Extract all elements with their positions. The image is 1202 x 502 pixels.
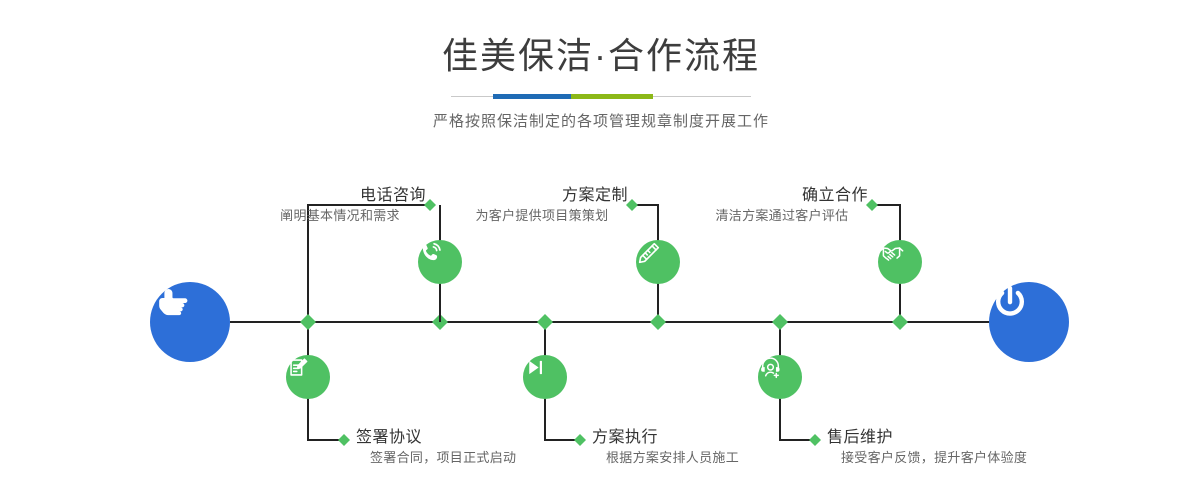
spine-marker	[892, 314, 908, 330]
step-label-3: 方案定制 为客户提供项目策策划	[456, 186, 628, 225]
infographic-canvas: 佳美保洁·合作流程 严格按照保洁制定的各项管理规章制度开展工作	[0, 0, 1202, 502]
spine-marker	[537, 314, 553, 330]
step-label-4: 方案执行 根据方案安排人员施工	[592, 428, 739, 467]
step-desc-3: 为客户提供项目策策划	[456, 206, 628, 225]
step-label-2: 签署协议 签署合同，项目正式启动	[356, 428, 516, 467]
step-title-6: 售后维护	[827, 428, 1027, 448]
flow-end-node[interactable]	[989, 282, 1069, 362]
step-icon-headset-support[interactable]	[758, 355, 802, 399]
label-marker	[574, 434, 586, 446]
step-label-5: 确立合作 清洁方案通过客户评估	[696, 186, 868, 225]
step-label-1: 电话咨询 阐明基本情况和需求	[254, 186, 426, 225]
step-icon-document-edit[interactable]	[286, 355, 330, 399]
step-desc-5: 清洁方案通过客户评估	[696, 206, 868, 225]
step-title-1: 电话咨询	[254, 186, 426, 206]
step-icon-play-skip[interactable]	[523, 355, 567, 399]
spine-marker	[300, 314, 316, 330]
step-icon-handshake[interactable]	[878, 240, 922, 284]
step-icon-phone-call[interactable]	[418, 240, 462, 284]
step-title-3: 方案定制	[456, 186, 628, 206]
step-title-2: 签署协议	[356, 428, 516, 448]
step-title-4: 方案执行	[592, 428, 739, 448]
label-marker	[338, 434, 350, 446]
step-icon-pencil-ruler[interactable]	[636, 240, 680, 284]
step-desc-4: 根据方案安排人员施工	[592, 448, 739, 467]
flow-connectors	[0, 0, 1202, 502]
label-marker	[809, 434, 821, 446]
process-flow: 电话咨询 阐明基本情况和需求 方案定制 为客户提供项目策策划 确立合作 清洁方案…	[0, 0, 1202, 502]
step-label-6: 售后维护 接受客户反馈，提升客户体验度	[827, 428, 1027, 467]
spine-marker	[772, 314, 788, 330]
flow-start-node[interactable]	[150, 282, 230, 362]
step-desc-2: 签署合同，项目正式启动	[356, 448, 516, 467]
step-title-5: 确立合作	[696, 186, 868, 206]
step-desc-6: 接受客户反馈，提升客户体验度	[827, 448, 1027, 467]
spine-marker	[650, 314, 666, 330]
step-desc-1: 阐明基本情况和需求	[254, 206, 426, 225]
